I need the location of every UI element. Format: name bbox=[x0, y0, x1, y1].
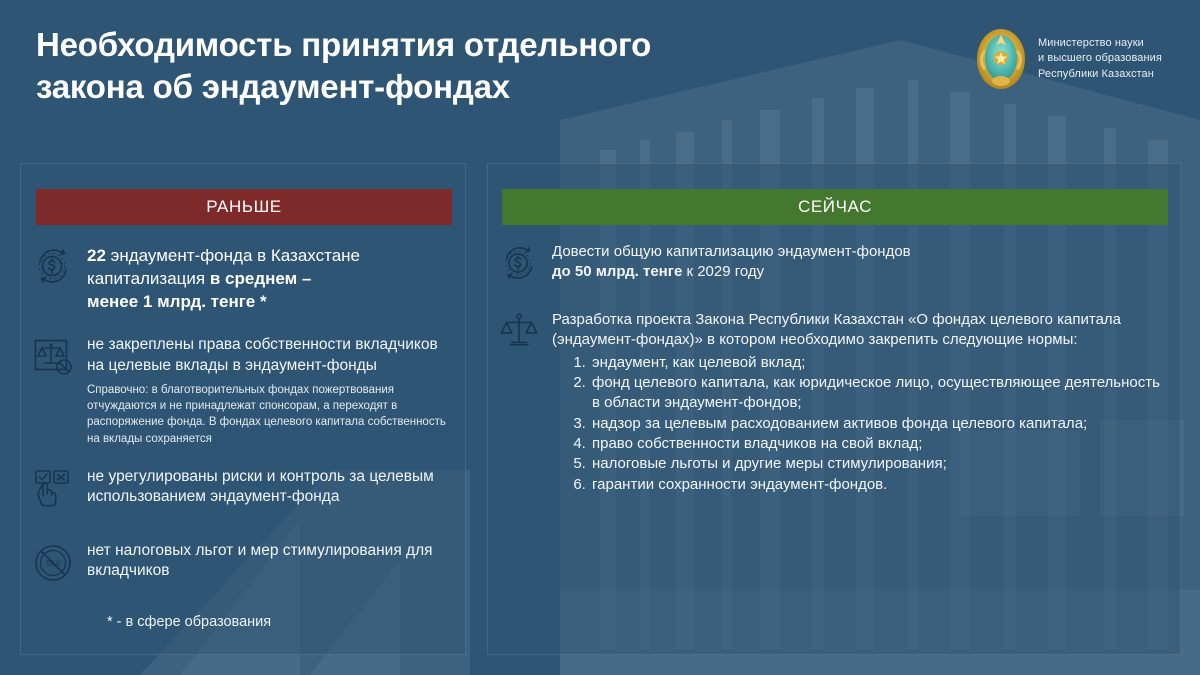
list-item: не урегулированы риски и контроль за цел… bbox=[31, 467, 453, 511]
norms-list-item: надзор за целевым расходованием активов … bbox=[590, 414, 1168, 434]
panel-before-footnote: * - в сфере образования bbox=[107, 614, 271, 630]
list-item: 22 эндаумент-фонда в Казахстане капитали… bbox=[31, 244, 453, 313]
panel-before-header: РАНЬШЕ bbox=[36, 189, 452, 225]
panel-before-items: 22 эндаумент-фонда в Казахстане капитали… bbox=[21, 244, 465, 585]
norms-list-item: фонд целевого капитала, как юридическое … bbox=[590, 373, 1168, 414]
norms-list: эндаумент, как целевой вклад;фонд целево… bbox=[552, 353, 1168, 496]
money-circulation-icon bbox=[31, 244, 75, 288]
list-item: не закреплены права собственности вкладч… bbox=[31, 335, 453, 447]
norms-list-item: эндаумент, как целевой вклад; bbox=[590, 353, 1168, 373]
norms-list-item: налоговые льготы и другие меры стимулиро… bbox=[590, 454, 1168, 474]
list-item-note: Справочно: в благотворительных фондах по… bbox=[87, 382, 453, 447]
slide-header: Необходимость принятия отдельного закона… bbox=[0, 0, 1200, 118]
ministry-branding: Министерство науки и высшего образования… bbox=[975, 28, 1162, 90]
no-tax-icon: TAX bbox=[31, 541, 75, 585]
list-item-text: не урегулированы риски и контроль за цел… bbox=[87, 467, 453, 508]
panel-now: СЕЙЧАС Довести о bbox=[487, 163, 1181, 655]
justice-scales-icon bbox=[498, 310, 540, 352]
panel-before: РАНЬШЕ 22 эндаум bbox=[20, 163, 466, 655]
norms-list-item: право собственности владчиков на свой вк… bbox=[590, 434, 1168, 454]
checkbox-hand-control-icon bbox=[31, 467, 75, 511]
ministry-name: Министерство науки и высшего образования… bbox=[1038, 36, 1162, 83]
kazakhstan-state-emblem-icon bbox=[975, 28, 1027, 90]
list-item: TAX нет налоговых льгот и мер стимулиров… bbox=[31, 541, 453, 585]
list-item-text: Довести общую капитализацию эндаумент-фо… bbox=[552, 242, 1168, 283]
panel-now-items: Довести общую капитализацию эндаумент-фо… bbox=[488, 242, 1180, 495]
list-item-text: не закреплены права собственности вкладч… bbox=[87, 335, 453, 376]
list-item: Довести общую капитализацию эндаумент-фо… bbox=[498, 242, 1168, 284]
list-item-text: Разработка проекта Закона Республики Каз… bbox=[552, 310, 1168, 351]
list-item-text: 22 эндаумент-фонда в Казахстане капитали… bbox=[87, 244, 453, 313]
svg-text:TAX: TAX bbox=[46, 559, 62, 568]
panel-now-header: СЕЙЧАС bbox=[502, 189, 1168, 225]
list-item: Разработка проекта Закона Республики Каз… bbox=[498, 310, 1168, 495]
list-item-text: нет налоговых льгот и мер стимулирования… bbox=[87, 541, 453, 582]
money-circulation-icon bbox=[498, 242, 540, 284]
page-title: Необходимость принятия отдельного закона… bbox=[36, 24, 916, 108]
justice-scales-blocked-icon bbox=[31, 335, 75, 379]
norms-list-item: гарантии сохранности эндаумент-фондов. bbox=[590, 475, 1168, 495]
